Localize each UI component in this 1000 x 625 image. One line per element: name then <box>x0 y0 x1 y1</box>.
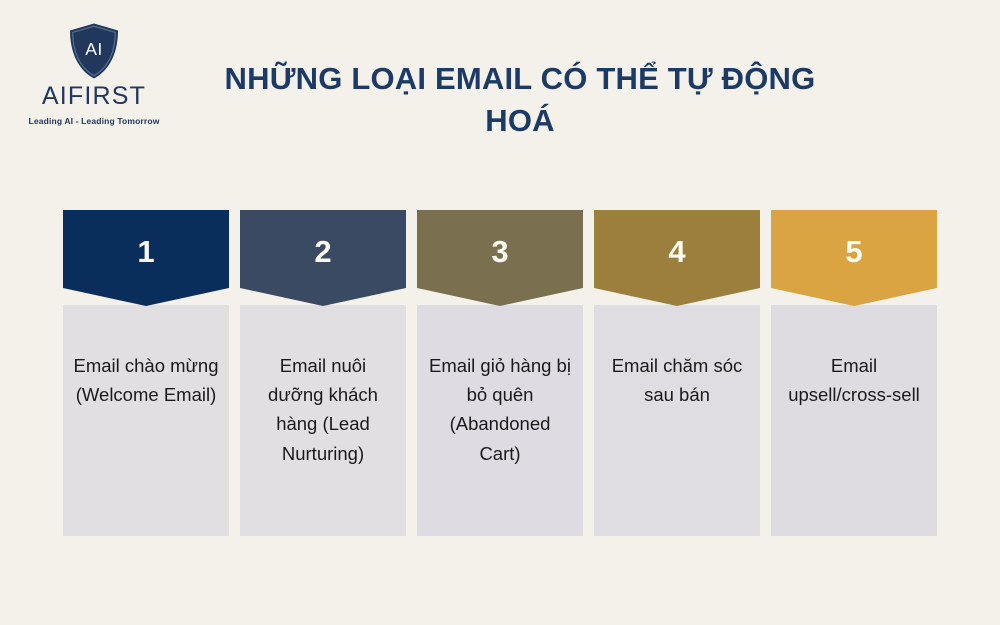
brand-name: AIFIRST <box>42 84 146 109</box>
brand-logo: AI AIFIRST Leading AI - Leading Tomorrow <box>24 22 164 138</box>
svg-text:AI: AI <box>85 39 103 59</box>
card-label: Email chăm sóc sau bán <box>594 305 760 536</box>
card-header: 4 <box>594 210 760 306</box>
card-header: 5 <box>771 210 937 306</box>
card-header: 3 <box>417 210 583 306</box>
card-item: 4 Email chăm sóc sau bán <box>594 210 760 536</box>
brand-tagline: Leading AI - Leading Tomorrow <box>29 116 160 126</box>
card-number: 2 <box>240 236 406 267</box>
card-header: 2 <box>240 210 406 306</box>
shield-ai-icon: AI <box>68 22 120 80</box>
page-title: NHỮNG LOẠI EMAIL CÓ THỂ TỰ ĐỘNG HOÁ <box>200 58 840 141</box>
card-row: 1 Email chào mừng (Welcome Email) 2 Emai… <box>63 210 937 536</box>
card-label: Email giỏ hàng bị bỏ quên (Abandoned Car… <box>417 305 583 536</box>
card-label: Email chào mừng (Welcome Email) <box>63 305 229 536</box>
card-number: 1 <box>63 236 229 267</box>
card-item: 5 Email upsell/cross-sell <box>771 210 937 536</box>
card-item: 2 Email nuôi dưỡng khách hàng (Lead Nurt… <box>240 210 406 536</box>
card-number: 3 <box>417 236 583 267</box>
card-item: 3 Email giỏ hàng bị bỏ quên (Abandoned C… <box>417 210 583 536</box>
card-label: Email upsell/cross-sell <box>771 305 937 536</box>
card-item: 1 Email chào mừng (Welcome Email) <box>63 210 229 536</box>
card-label: Email nuôi dưỡng khách hàng (Lead Nurtur… <box>240 305 406 536</box>
card-header: 1 <box>63 210 229 306</box>
card-number: 5 <box>771 236 937 267</box>
card-number: 4 <box>594 236 760 267</box>
